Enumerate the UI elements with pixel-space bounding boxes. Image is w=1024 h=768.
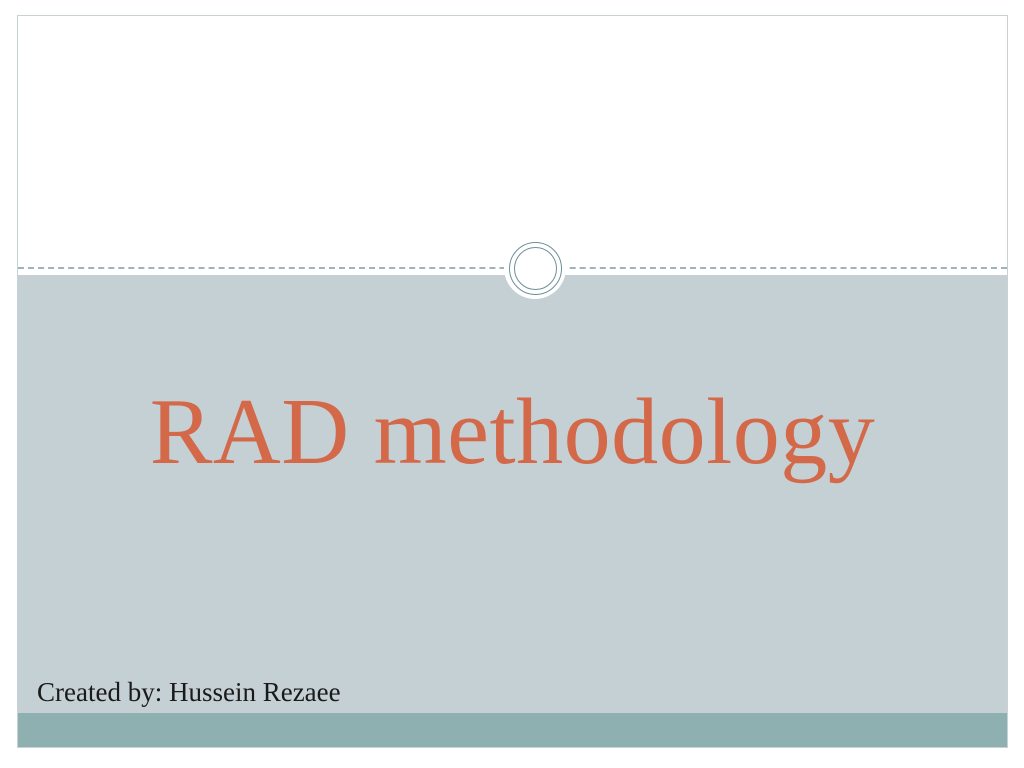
slide-title[interactable]: RAD methodology [54, 374, 971, 494]
slide-canvas: RAD methodology Created by: Hussein Reza… [0, 0, 1024, 768]
slide-footer-accent-bar [18, 713, 1007, 747]
slide-body-band [18, 275, 1007, 715]
ring-inner-circle [514, 247, 557, 290]
presentation-slide[interactable]: RAD methodology Created by: Hussein Reza… [17, 15, 1008, 748]
double-ring-decoration-icon [489, 222, 581, 314]
slide-subtitle-author[interactable]: Created by: Hussein Rezaee [37, 672, 637, 712]
